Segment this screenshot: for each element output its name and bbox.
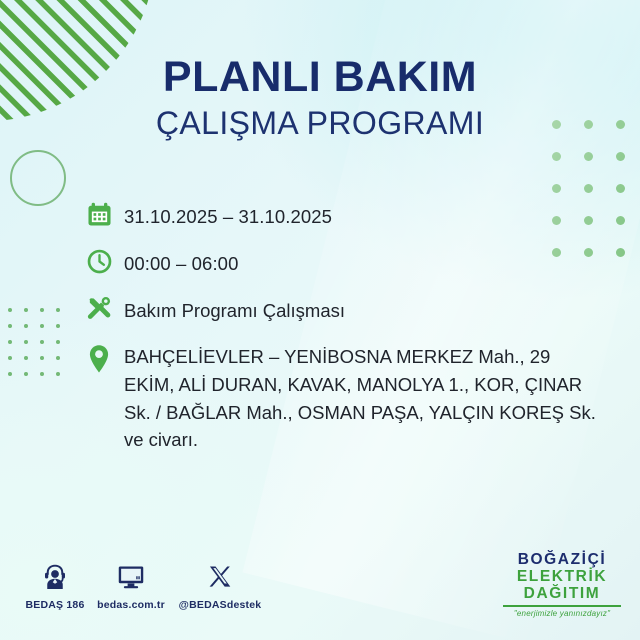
date-range-text: 31.10.2025 – 31.10.2025	[124, 200, 332, 230]
logo-divider	[503, 605, 621, 607]
circle-outline-decoration	[10, 150, 66, 206]
info-row-date: 31.10.2025 – 31.10.2025	[86, 200, 606, 235]
info-list: 31.10.2025 – 31.10.2025 00:00 – 06:00	[86, 200, 606, 454]
logo-line-1: BOĞAZİÇİ	[498, 551, 626, 568]
info-row-time: 00:00 – 06:00	[86, 247, 606, 282]
info-row-address: BAHÇELİEVLER – YENİBOSNA MERKEZ Mah., 29…	[86, 341, 606, 454]
footer-item-x-handle[interactable]: @BEDASdestek	[165, 560, 275, 611]
title-main: PLANLI BAKIM	[0, 56, 640, 100]
clock-icon	[86, 247, 124, 282]
calendar-icon	[86, 200, 124, 235]
logo-line-2: ELEKTRİK	[498, 568, 626, 585]
x-twitter-icon	[165, 560, 275, 594]
logo-tagline: "enerjimizle yanınızdayız"	[498, 609, 626, 618]
page-title: PLANLI BAKIM ÇALIŞMA PROGRAMI	[0, 56, 640, 141]
title-sub: ÇALIŞMA PROGRAMI	[0, 106, 640, 141]
work-type-text: Bakım Programı Çalışması	[124, 294, 345, 324]
planned-maintenance-poster: PLANLI BAKIM ÇALIŞMA PROGRAMI 31.10.2025…	[0, 0, 640, 640]
dot-grid-left-decoration	[8, 308, 72, 388]
bedas-logo: BOĞAZİÇİ ELEKTRİK DAĞITIM "enerjimizle y…	[498, 551, 626, 618]
tools-icon	[86, 294, 124, 329]
address-text: BAHÇELİEVLER – YENİBOSNA MERKEZ Mah., 29…	[124, 341, 602, 454]
info-row-work-type: Bakım Programı Çalışması	[86, 294, 606, 329]
logo-line-3: DAĞITIM	[498, 585, 626, 602]
time-range-text: 00:00 – 06:00	[124, 247, 238, 277]
location-pin-icon	[86, 341, 124, 378]
footer-label-x-handle: @BEDASdestek	[165, 599, 275, 611]
